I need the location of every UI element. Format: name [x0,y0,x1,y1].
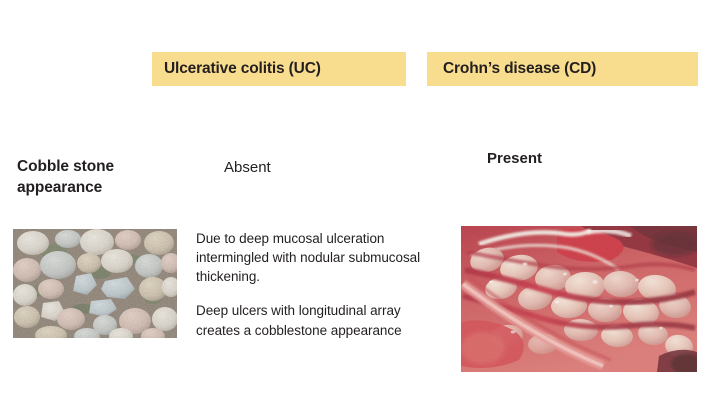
status-uc-absent: Absent [224,160,271,175]
row-label-line-2: appearance [17,177,182,198]
row-label-line-1: Cobble stone [17,156,182,177]
status-cd-present: Present [487,151,542,166]
slide-canvas: Ulcerative colitis (UC) Crohn’s disease … [0,0,720,404]
uc-description-paragraph-1: Due to deep mucosal ulceration interming… [196,229,444,286]
row-label-cobble-stone-appearance: Cobble stone appearance [17,156,182,199]
column-header-ulcerative-colitis: Ulcerative colitis (UC) [152,52,406,86]
cobblestone-pavement-photo [13,229,177,338]
uc-description-block: Due to deep mucosal ulceration interming… [196,229,444,340]
uc-description-paragraph-2: Deep ulcers with longitudinal array crea… [196,301,444,339]
crohns-bowel-specimen-photo [461,226,697,372]
column-header-label-cd: Crohn’s disease (CD) [443,61,596,77]
column-header-crohns-disease: Crohn’s disease (CD) [427,52,698,86]
column-header-label-uc: Ulcerative colitis (UC) [164,61,321,77]
